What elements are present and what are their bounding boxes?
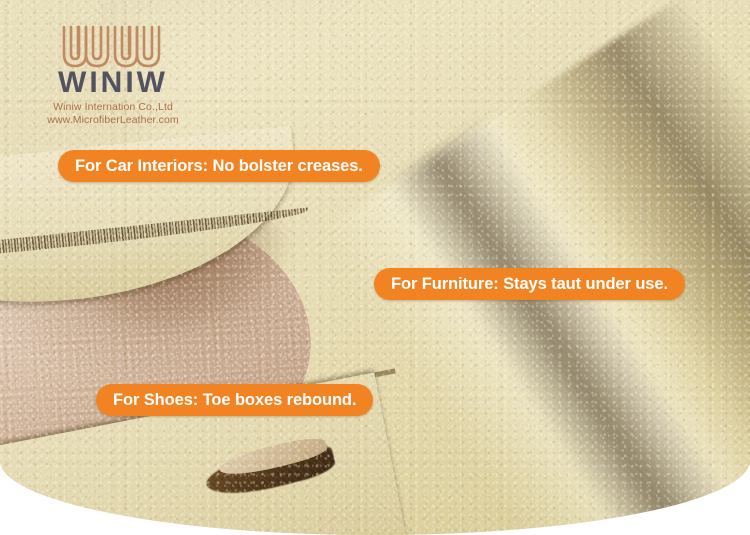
badge-furniture: For Furniture: Stays taut under use. xyxy=(374,268,685,300)
winiw-w-monogram-icon xyxy=(57,24,169,70)
logo-company-name: Winiw Internation Co.,Ltd xyxy=(28,101,198,114)
logo-wordmark: WINIW xyxy=(28,68,198,98)
banner-image: WINIW Winiw Internation Co.,Ltd www.Micr… xyxy=(0,0,750,535)
badge-car-interiors: For Car Interiors: No bolster creases. xyxy=(58,150,380,182)
badge-shoes: For Shoes: Toe boxes rebound. xyxy=(96,384,373,416)
winiw-logo: WINIW Winiw Internation Co.,Ltd www.Micr… xyxy=(28,24,198,127)
logo-website: www.MicrofiberLeather.com xyxy=(28,114,198,127)
